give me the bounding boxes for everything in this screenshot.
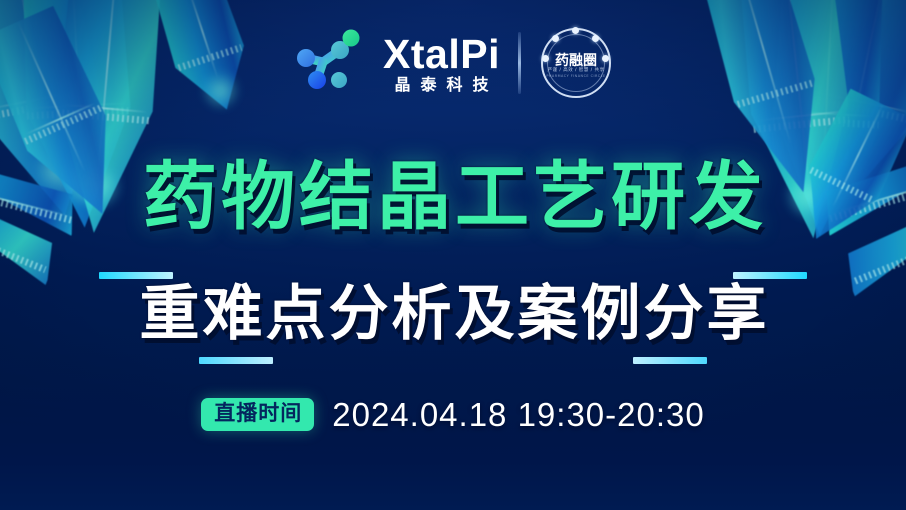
brand-name-en: XtalPi [383,34,500,75]
partner-badge: 药融圈 严谨 / 高效 / 智慧 / 共享 PHARMACY FINANCE C… [539,26,613,100]
logo-divider [518,32,521,94]
accent-bar-bottom-right [633,357,707,364]
subtitle-block: 重难点分析及案例分享 [0,272,906,376]
accent-bar-bottom-left [199,357,273,364]
webinar-poster: XtalPi 晶泰科技 药融圈 严谨 / 高效 / 智慧 / 共享 PHARMA… [0,0,906,510]
accent-bar-top-right [733,272,807,279]
schedule-row: 直播时间 2024.04.18 19:30-20:30 [0,398,906,431]
live-time-badge: 直播时间 [201,398,314,431]
partner-badge-subtext2: PHARMACY FINANCE CIRCLE [539,74,613,78]
badge-node [552,35,559,42]
page-title: 药物结晶工艺研发 [139,160,767,234]
badge-node [572,27,579,34]
schedule-datetime: 2024.04.18 19:30-20:30 [332,398,704,431]
brand-lockup: XtalPi 晶泰科技 [383,34,500,93]
brand-name-cn: 晶泰科技 [384,77,498,93]
accent-bar-top-left [99,272,173,279]
molecule-icon [293,28,365,98]
logo-bar: XtalPi 晶泰科技 药融圈 严谨 / 高效 / 智慧 / 共享 PHARMA… [0,26,906,100]
badge-node [592,35,599,42]
partner-badge-subtext: 严谨 / 高效 / 智慧 / 共享 [539,67,613,73]
headline-block: 药物结晶工艺研发 [0,160,906,234]
page-subtitle: 重难点分析及案例分享 [95,284,811,344]
